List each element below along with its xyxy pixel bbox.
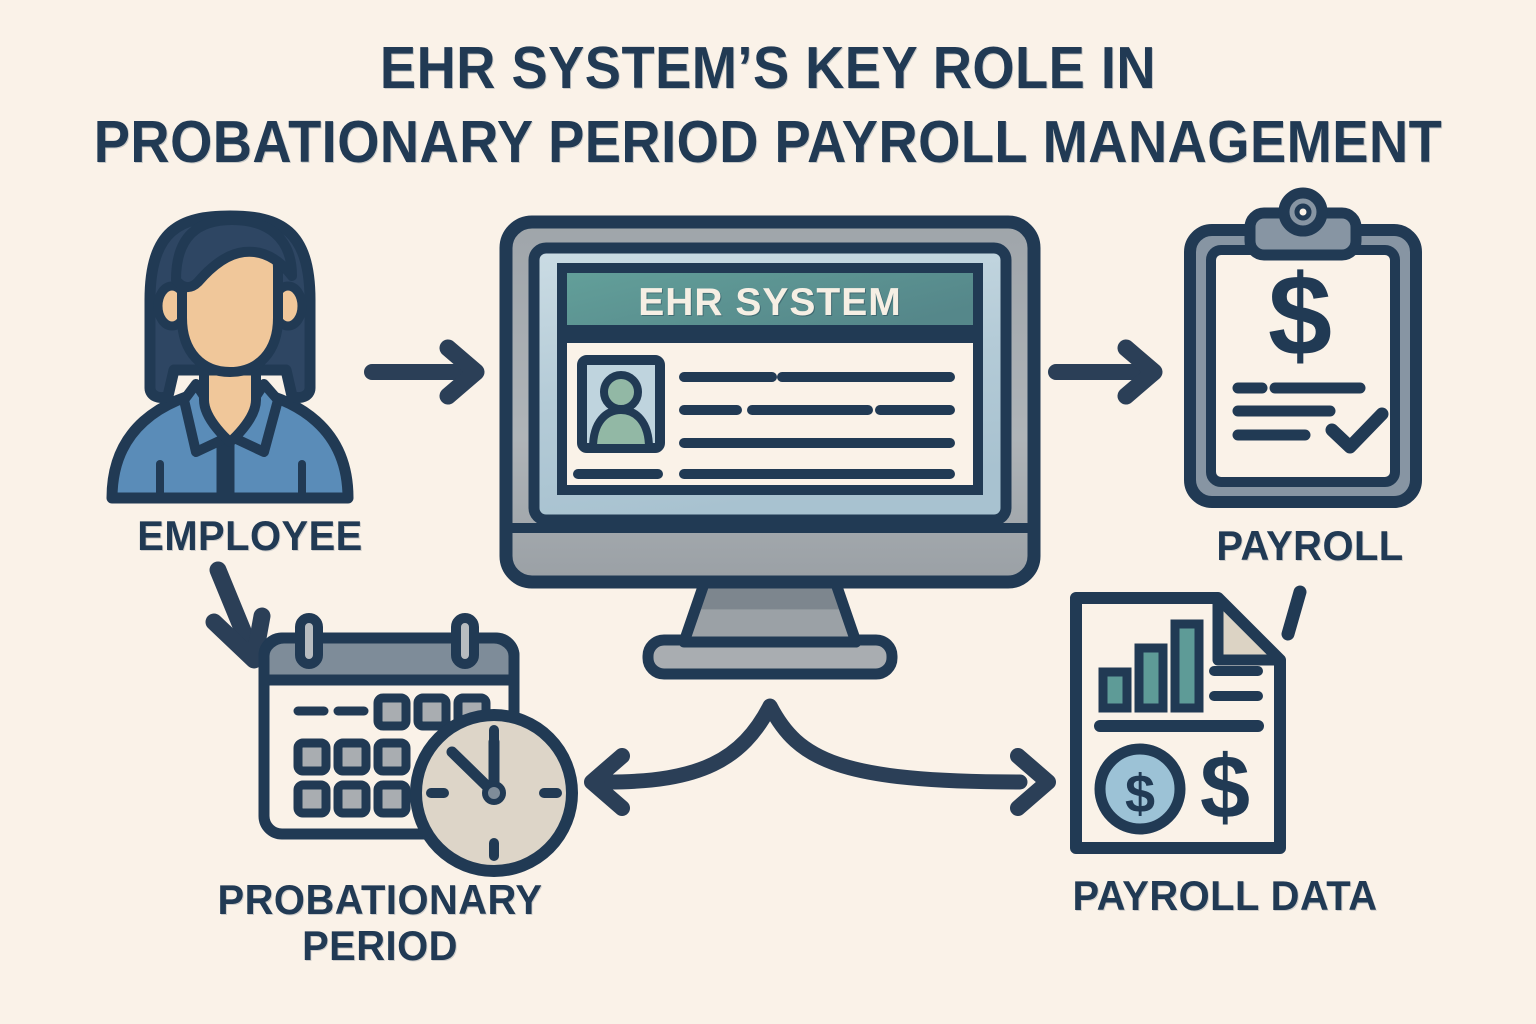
node-label-probationary-period-line2: PERIOD [171, 923, 589, 969]
svg-text:$: $ [1125, 764, 1155, 824]
node-label-payroll: PAYROLL [1149, 522, 1472, 570]
node-label-payroll-data: PAYROLL DATA [1021, 872, 1430, 920]
ehr-system-screen-header: EHR SYSTEM [560, 281, 980, 325]
bar-2 [1139, 648, 1163, 708]
dollar-sign-glyph-large: $ [1200, 738, 1250, 838]
document-chart-dollar-icon: $ $ [1076, 592, 1300, 848]
node-label-probationary-period-line1: PROBATIONARY [171, 877, 589, 923]
bar-3 [1175, 624, 1199, 708]
bar-1 [1103, 672, 1127, 708]
infographic-canvas: EHR SYSTEM’S KEY ROLE IN PROBATIONARY PE… [0, 0, 1536, 1024]
calendar-clock-icon [264, 618, 572, 871]
node-label-employee: EMPLOYEE [70, 512, 431, 560]
node-label-probationary-period: PROBATIONARY PERIOD [171, 877, 589, 969]
arrow-employee-to-ehr-icon [372, 348, 476, 396]
arrow-branch-ehr-outputs-icon [592, 706, 1048, 808]
employee-avatar-icon [110, 216, 363, 500]
dollar-sign-glyph: $ [1268, 252, 1332, 380]
clipboard-dollar-icon: $ [1190, 193, 1416, 502]
spark-mark [1288, 592, 1300, 634]
arrow-ehr-to-payroll-icon [1056, 348, 1154, 396]
arrow-employee-to-probation-icon [214, 570, 262, 660]
